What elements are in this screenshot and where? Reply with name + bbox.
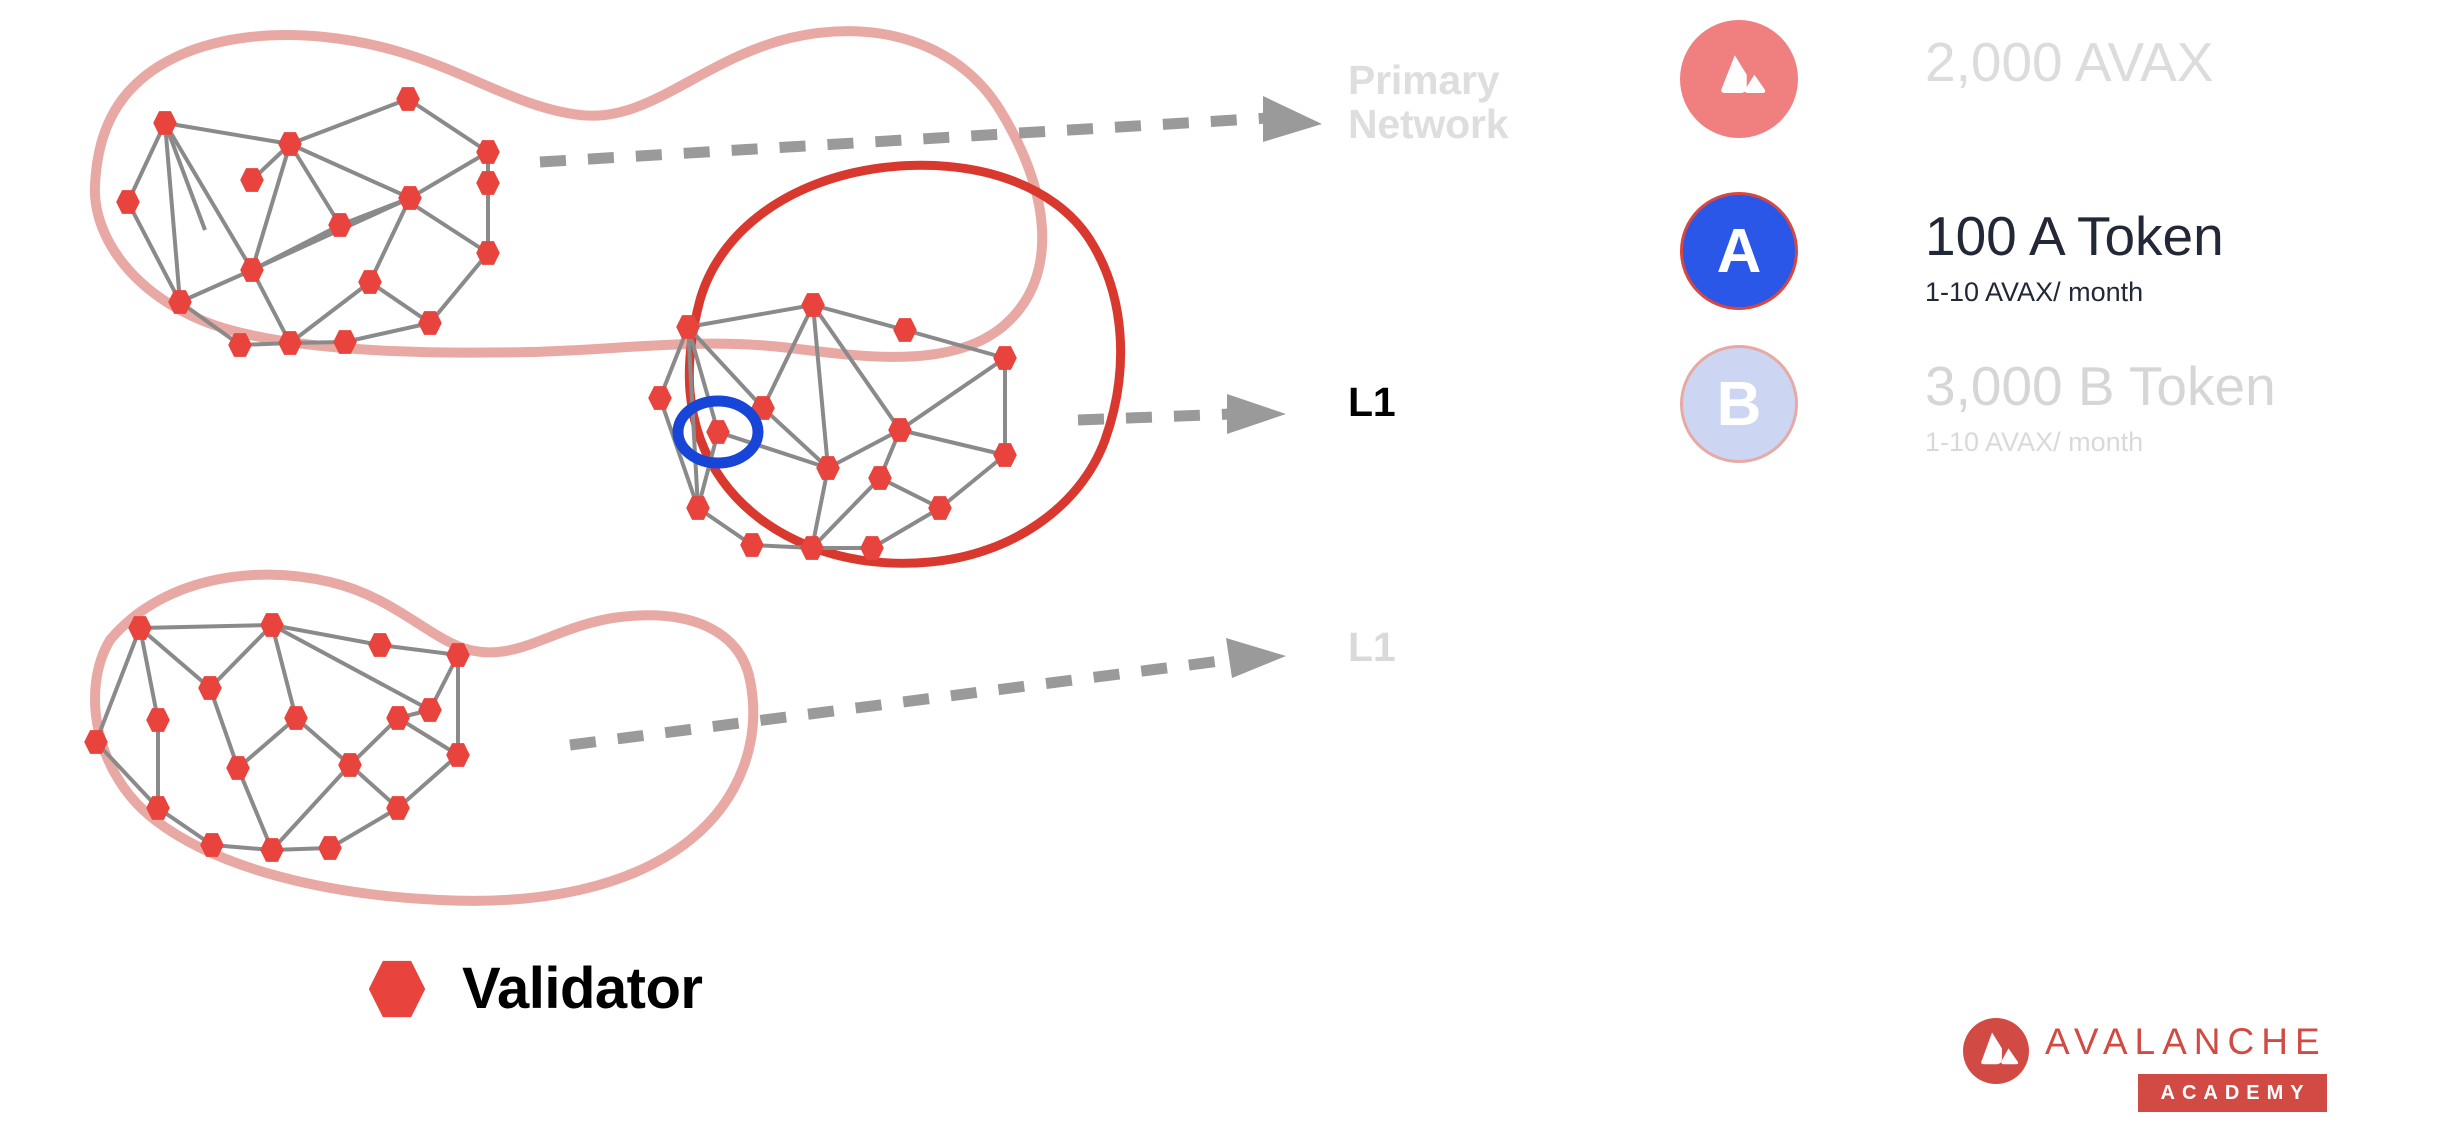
brand-text: AVALANCHE ACADEMY: [2045, 1018, 2327, 1112]
amount-subtext-l1-a: 1-10 AVAX/ month: [1925, 277, 2224, 308]
brand-academy-badge: ACADEMY: [2138, 1074, 2327, 1112]
arrow-primary: [540, 96, 1322, 162]
token-b-letter: B: [1717, 369, 1762, 440]
token-a-letter: A: [1717, 216, 1762, 287]
network-outline-primary: [95, 31, 1042, 357]
network-outline-l1-a: [689, 165, 1120, 563]
network-l1-b: [84, 575, 753, 901]
amount-value-primary: 2,000 AVAX: [1925, 34, 2213, 92]
network-label-primary: Primary Network: [1348, 58, 1508, 147]
amount-value-l1-a: 100 A Token: [1925, 208, 2224, 266]
diagram-canvas: Primary Network L1 L1 A B 2,000 AVAX 100…: [0, 0, 2444, 1148]
avalanche-logo-icon: [1963, 1018, 2029, 1084]
legend: Validator: [366, 955, 702, 1022]
amount-subtext-l1-b: 1-10 AVAX/ month: [1925, 427, 2276, 458]
amount-value-l1-b: 3,000 B Token: [1925, 358, 2276, 416]
network-outline-l1-b: [95, 575, 753, 901]
network-l1-a: [648, 165, 1120, 563]
legend-label: Validator: [462, 955, 702, 1022]
avalanche-mark-icon: [1704, 44, 1774, 114]
amount-block-l1-b: 3,000 B Token 1-10 AVAX/ month: [1925, 358, 2276, 458]
hexagon-icon: [366, 958, 428, 1020]
network-label-l1-b: L1: [1348, 625, 1395, 669]
arrow-l1-b: [570, 638, 1286, 745]
avalanche-academy-logo: AVALANCHE ACADEMY: [1963, 1018, 2327, 1112]
token-a-icon: A: [1680, 192, 1798, 310]
avalanche-logo-icon: [1680, 20, 1798, 138]
network-label-l1-a: L1: [1348, 380, 1395, 424]
amount-block-l1-a: 100 A Token 1-10 AVAX/ month: [1925, 208, 2224, 308]
brand-wordmark: AVALANCHE: [2045, 1018, 2327, 1060]
network-primary-network: [95, 31, 1042, 357]
token-b-icon: B: [1680, 345, 1798, 463]
amount-block-primary: 2,000 AVAX: [1925, 34, 2213, 92]
